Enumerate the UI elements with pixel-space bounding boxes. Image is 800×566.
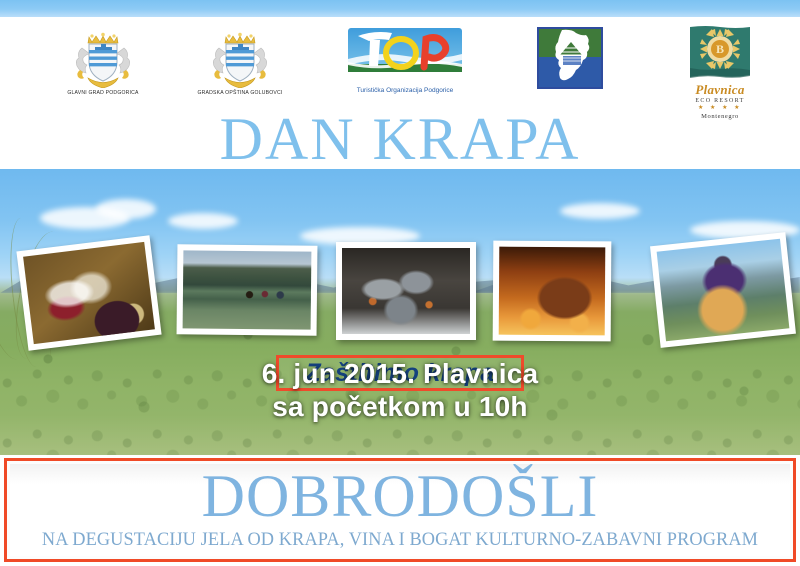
welcome-heading: DOBRODOŠLI <box>10 466 790 527</box>
map-emblem-icon <box>536 26 604 90</box>
photo-image <box>657 239 790 341</box>
cloud-shape <box>168 213 238 229</box>
coat-of-arms-icon <box>72 30 134 88</box>
logo-turisticka-organizacija-podgorice: Turistička Organizacija Podgorice <box>330 26 480 94</box>
photo-fisherman-carp <box>650 232 796 348</box>
top-blue-strip <box>0 0 800 17</box>
poster-header: GLAVNI GRAD PODGORICA <box>0 17 800 169</box>
logo-glavni-grad-podgorica: GLAVNI GRAD PODGORICA <box>28 30 178 96</box>
cloud-shape <box>560 203 640 219</box>
logo-caption: GLAVNI GRAD PODGORICA <box>27 90 180 96</box>
photo-image <box>499 247 606 336</box>
sponsor-logo-row: GLAVNI GRAD PODGORICA <box>0 22 800 102</box>
event-date-line1: 6. jun 2015. Plavnica <box>262 358 539 389</box>
cloud-shape <box>96 199 156 219</box>
photo-copper-pot-fire <box>493 241 612 342</box>
photo-grilled-fish <box>336 242 476 340</box>
photo-image <box>342 248 470 334</box>
coat-of-arms-icon <box>209 30 271 88</box>
scenic-background: Zaštitimo krapa 6. jun 2015. Plavnica sa… <box>0 169 800 455</box>
photo-image <box>183 250 312 329</box>
photo-wine-grapes <box>16 235 161 351</box>
logo-caption: Turistička Organizacija Podgorice <box>330 87 480 94</box>
logo-plavnica-eco-resort: B Plavnica ECO RESORT ★ ★ ★ ★ Montenegro <box>655 24 785 120</box>
photo-image <box>23 242 155 344</box>
page-title: DAN KRAPA <box>0 109 800 169</box>
event-date-block: 6. jun 2015. Plavnica sa početkom u 10h <box>0 357 800 423</box>
logo-gradska-opstina-golubovci: GRADSKA OPŠTINA GOLUBOVCI <box>160 30 320 96</box>
welcome-subtitle: NA DEGUSTACIJU JELA OD KRAPA, VINA I BOG… <box>14 530 786 551</box>
welcome-banner-inner: DOBRODOŠLI NA DEGUSTACIJU JELA OD KRAPA,… <box>10 464 790 556</box>
plavnica-subtitle: ECO RESORT <box>655 98 785 104</box>
welcome-banner: DOBRODOŠLI NA DEGUSTACIJU JELA OD KRAPA,… <box>4 458 796 562</box>
event-date-line2: sa početkom u 10h <box>0 390 800 423</box>
top-wordmark-icon <box>346 26 464 86</box>
svg-text:B: B <box>716 42 724 56</box>
logo-caption: GRADSKA OPŠTINA GOLUBOVCI <box>158 90 321 96</box>
photo-boat-lake <box>177 244 318 335</box>
plavnica-flag-icon: B <box>687 24 753 80</box>
plavnica-name: Plavnica <box>655 83 785 96</box>
event-poster: GLAVNI GRAD PODGORICA <box>0 0 800 566</box>
logo-montenegro-map <box>505 26 635 90</box>
